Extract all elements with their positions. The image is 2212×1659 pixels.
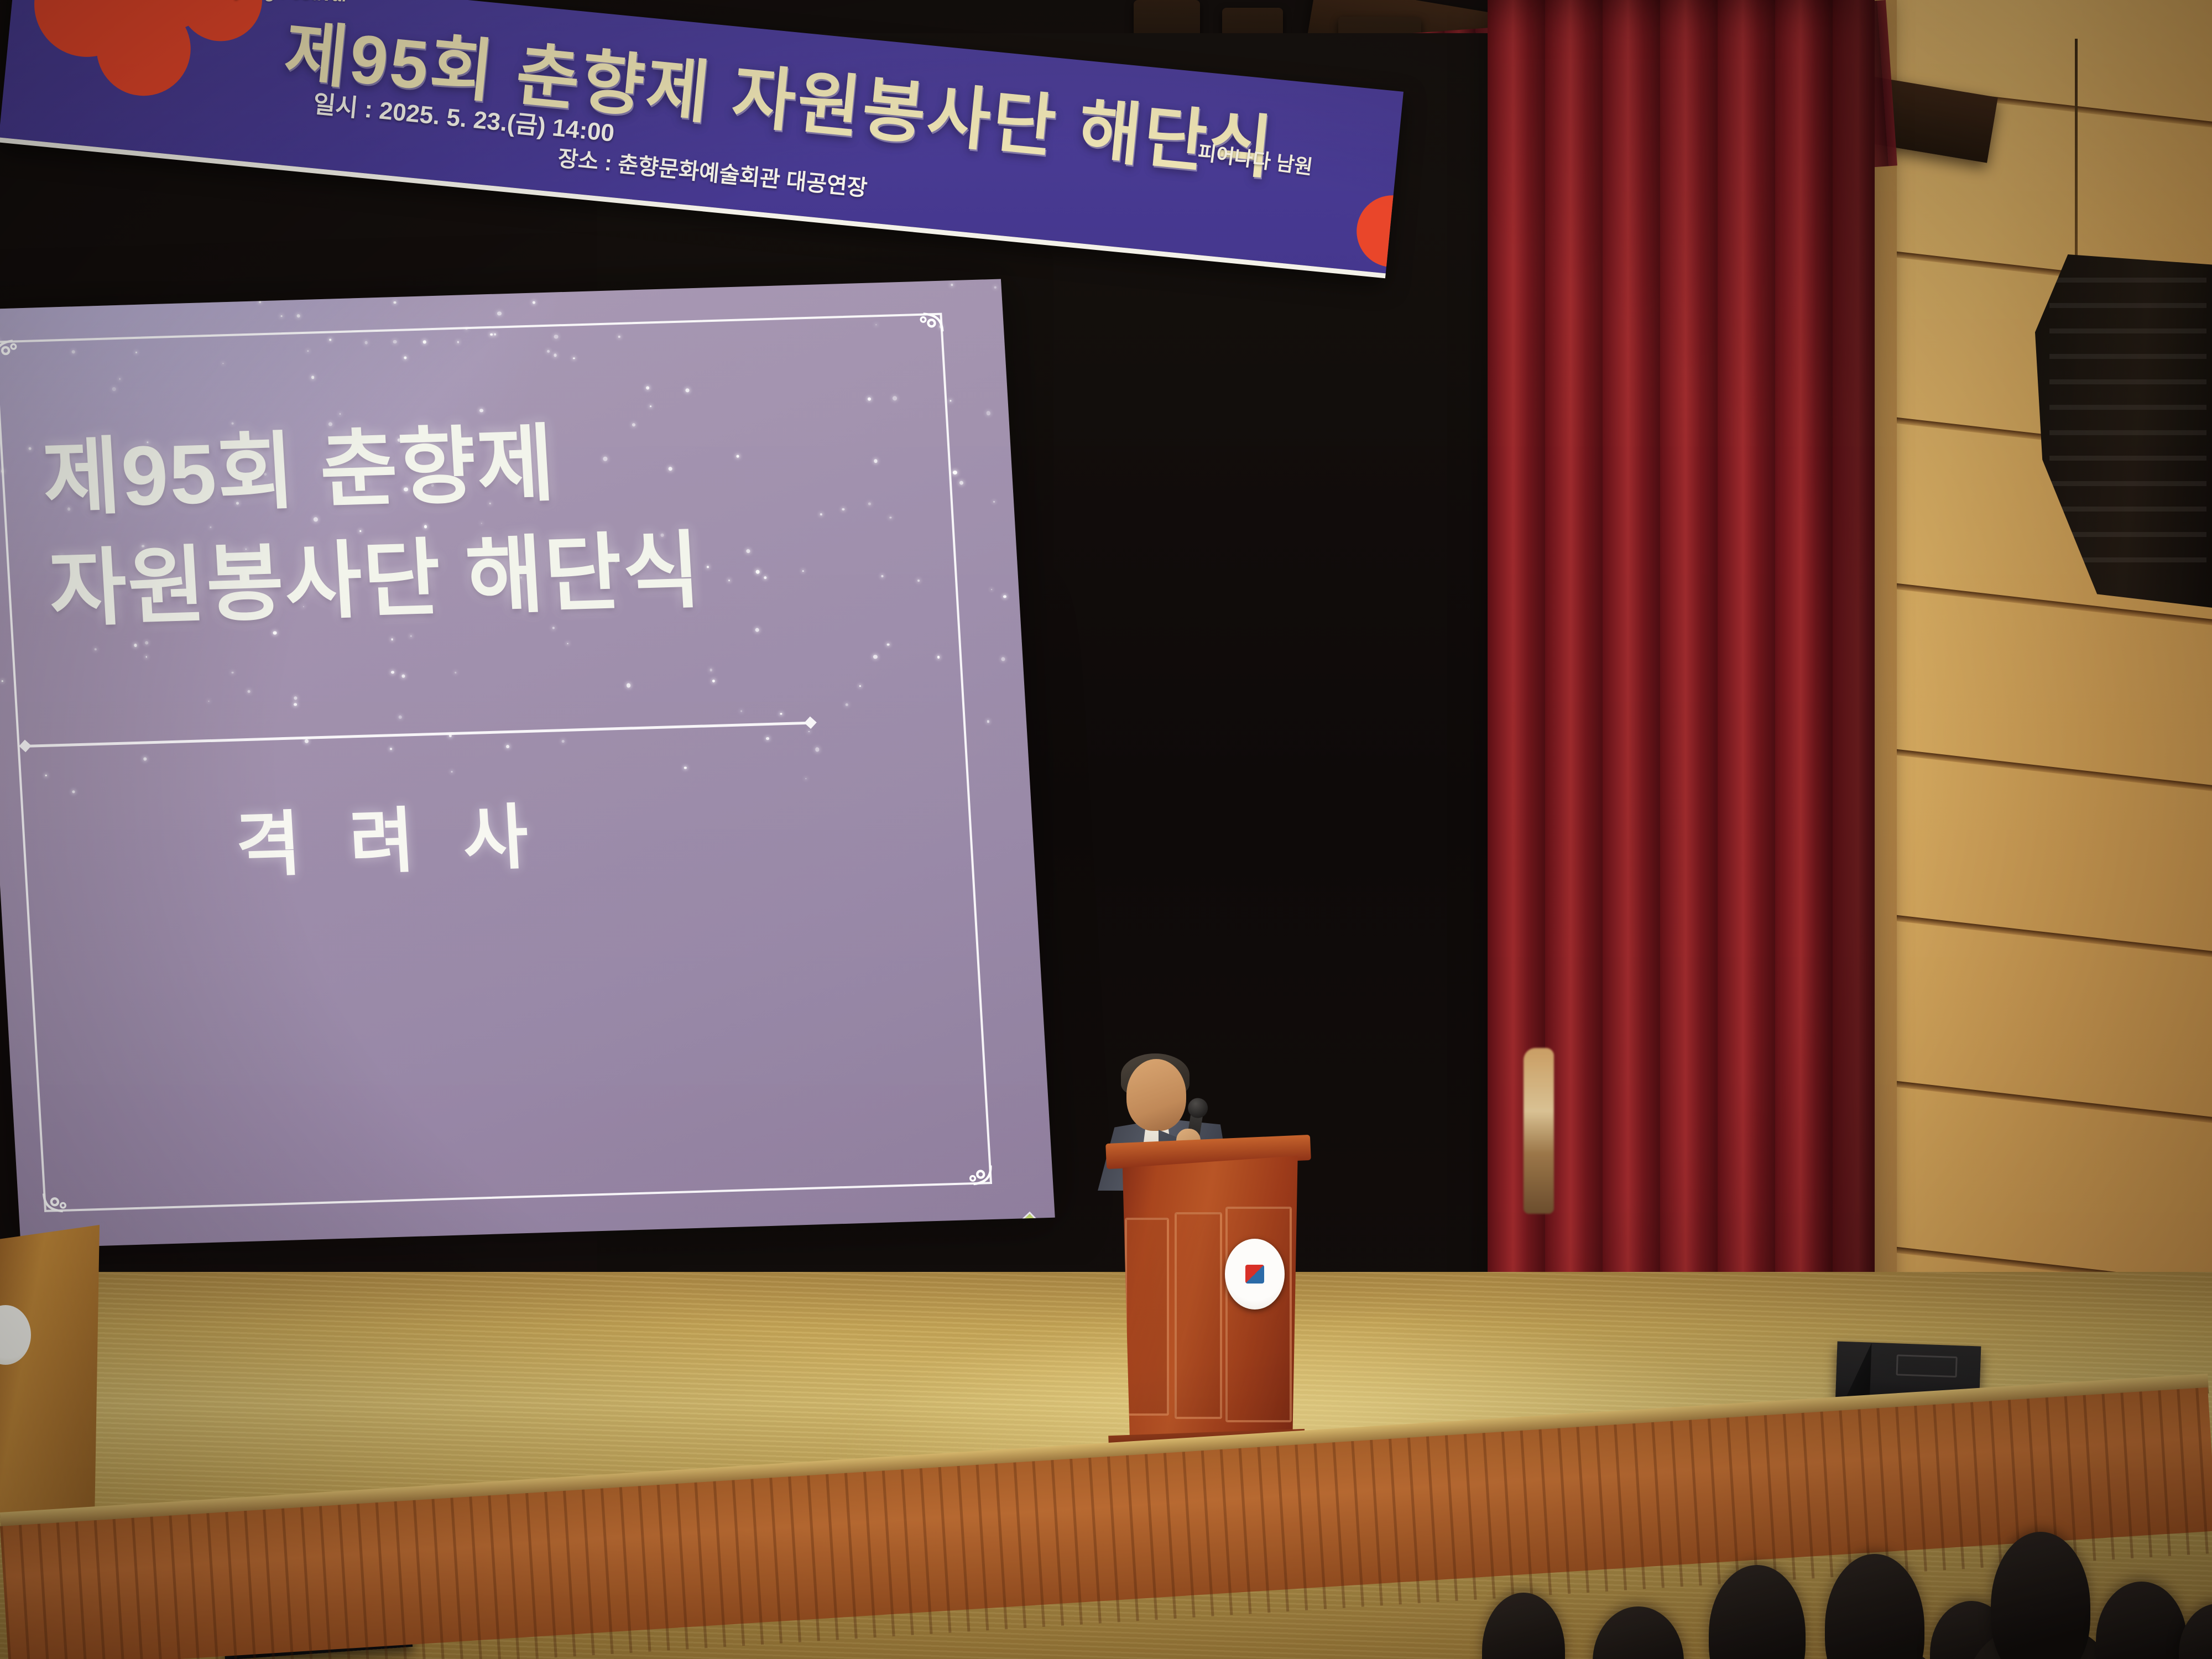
corner-scroll-icon bbox=[39, 1167, 89, 1215]
speaker-cell bbox=[2049, 328, 2206, 333]
apron-slat bbox=[1483, 1433, 1496, 1599]
apron-slat bbox=[1370, 1440, 1383, 1606]
apron-slat bbox=[1820, 1412, 1833, 1578]
apron-slat bbox=[2158, 1390, 2171, 1556]
stage-monitor-brand-icon bbox=[1896, 1355, 1958, 1378]
apron-slat bbox=[2101, 1394, 2115, 1560]
apron-slat bbox=[1201, 1451, 1214, 1616]
apron-slat bbox=[1407, 1438, 1421, 1604]
apron-slat bbox=[19, 1525, 32, 1659]
apron-slat bbox=[413, 1500, 426, 1659]
apron-slat bbox=[1389, 1439, 1402, 1605]
projection-screen: 제95회 춘향제 자원봉사단 해단식 격 려 사 bbox=[0, 279, 1055, 1249]
apron-slat bbox=[957, 1466, 971, 1632]
apron-slat bbox=[244, 1511, 257, 1659]
apron-slat bbox=[750, 1479, 764, 1645]
apron-slat bbox=[920, 1468, 933, 1634]
star-particle bbox=[987, 720, 990, 723]
apron-slat bbox=[1557, 1428, 1571, 1594]
apron-slat bbox=[1088, 1458, 1102, 1624]
apron-slat bbox=[1745, 1416, 1759, 1582]
star-particle bbox=[1003, 595, 1006, 598]
apron-slat bbox=[2083, 1395, 2096, 1561]
apron-slat bbox=[807, 1475, 820, 1641]
apron-slat bbox=[132, 1518, 145, 1659]
apron-slat bbox=[488, 1495, 501, 1659]
projection-screen-surface: 제95회 춘향제 자원봉사단 해단식 격 려 사 bbox=[0, 279, 1055, 1249]
apron-slat bbox=[450, 1498, 463, 1659]
apron-slat bbox=[150, 1517, 163, 1659]
apron-slat bbox=[695, 1483, 708, 1648]
speaker-cell bbox=[2049, 405, 2206, 410]
apron-slat bbox=[263, 1510, 276, 1659]
apron-slat bbox=[769, 1478, 782, 1644]
apron-slat bbox=[1332, 1442, 1345, 1608]
apron-slat bbox=[394, 1501, 408, 1659]
apron-slat bbox=[431, 1499, 445, 1659]
apron-slat bbox=[1895, 1407, 1908, 1573]
speaker-cell bbox=[2049, 430, 2206, 435]
apron-slat bbox=[1520, 1431, 1533, 1597]
apron-slat bbox=[1726, 1417, 1740, 1583]
apron-slat bbox=[2139, 1391, 2152, 1557]
apron-slat bbox=[469, 1496, 482, 1659]
apron-slat bbox=[732, 1480, 745, 1646]
apron-slat bbox=[1576, 1427, 1589, 1593]
slide-title: 제95회 춘향제 자원봉사단 해단식 bbox=[40, 401, 816, 645]
apron-slat bbox=[544, 1492, 557, 1658]
slide-title-line2: 자원봉사단 해단식 bbox=[46, 512, 816, 645]
apron-slat bbox=[1501, 1432, 1515, 1598]
apron-slat bbox=[56, 1522, 70, 1659]
podium-secondary bbox=[0, 1225, 100, 1512]
apron-slat bbox=[1538, 1430, 1552, 1595]
apron-slat bbox=[281, 1509, 295, 1659]
apron-slat bbox=[1651, 1422, 1665, 1588]
apron-slat bbox=[1632, 1423, 1646, 1589]
apron-slat bbox=[94, 1520, 107, 1659]
apron-slat bbox=[1876, 1408, 1890, 1574]
apron-slat bbox=[2195, 1388, 2209, 1554]
apron-slat bbox=[1914, 1406, 1927, 1572]
apron-slat bbox=[2177, 1389, 2190, 1555]
star-particle bbox=[280, 315, 282, 317]
speaker-cell bbox=[2049, 507, 2206, 512]
apron-slat bbox=[1614, 1425, 1627, 1590]
apron-slat bbox=[1839, 1410, 1852, 1576]
apron-slat bbox=[1164, 1453, 1177, 1619]
slide-title-line1: 제95회 춘향제 bbox=[40, 401, 809, 534]
apron-slat bbox=[1933, 1405, 1946, 1571]
speaker-hang-wire bbox=[2075, 39, 2078, 260]
corner-scroll-icon bbox=[945, 1140, 995, 1188]
apron-slat bbox=[1276, 1446, 1289, 1612]
apron-slat bbox=[788, 1477, 801, 1642]
star-particle bbox=[991, 589, 992, 590]
apron-slat bbox=[38, 1524, 51, 1659]
apron-slat bbox=[225, 1512, 238, 1659]
apron-slat bbox=[1708, 1418, 1721, 1584]
apron-slat bbox=[882, 1470, 895, 1636]
apron-slat bbox=[1970, 1402, 1984, 1568]
apron-slat bbox=[507, 1494, 520, 1659]
presenter-head bbox=[1126, 1059, 1186, 1131]
apron-slat bbox=[2120, 1392, 2133, 1558]
star-particle bbox=[950, 400, 952, 402]
stage-photograph: 제95회 춘향제 자원봉사단 해단식 격 려 사 Chunhyang Festi… bbox=[0, 0, 2212, 1659]
apron-slat bbox=[1426, 1436, 1439, 1602]
speaker-cell bbox=[2049, 379, 2206, 384]
apron-slat bbox=[582, 1490, 595, 1656]
apron-slat bbox=[1689, 1420, 1702, 1586]
apron-slat bbox=[169, 1515, 182, 1659]
apron-slat bbox=[1670, 1421, 1683, 1587]
apron-slat bbox=[826, 1474, 839, 1640]
apron-slat bbox=[1051, 1460, 1064, 1626]
apron-slat bbox=[1295, 1444, 1308, 1610]
person-behind-curtain bbox=[1524, 1048, 1554, 1214]
apron-slat bbox=[1445, 1435, 1458, 1601]
apron-slat bbox=[1070, 1459, 1083, 1625]
star-particle bbox=[497, 311, 502, 316]
apron-slat bbox=[525, 1493, 539, 1659]
apron-slat bbox=[1239, 1448, 1252, 1614]
apron-slat bbox=[357, 1504, 370, 1659]
star-particle bbox=[986, 411, 990, 415]
apron-slat bbox=[844, 1473, 858, 1639]
star-particle bbox=[951, 284, 953, 286]
speaker-cell bbox=[2049, 354, 2206, 359]
apron-slat bbox=[319, 1506, 332, 1659]
apron-slat bbox=[938, 1467, 952, 1633]
corner-scroll-icon bbox=[0, 336, 41, 385]
star-particle bbox=[533, 301, 535, 304]
apron-slat bbox=[1952, 1404, 1965, 1569]
star-particle bbox=[1, 680, 3, 682]
apron-slat bbox=[1258, 1447, 1271, 1613]
apron-slat bbox=[206, 1513, 220, 1659]
apron-slat bbox=[1764, 1415, 1777, 1581]
apron-slat bbox=[1145, 1454, 1158, 1620]
speaker-cell bbox=[2049, 456, 2206, 461]
apron-slat bbox=[676, 1484, 689, 1650]
apron-slat bbox=[1989, 1401, 2002, 1567]
apron-slat bbox=[1182, 1452, 1196, 1618]
apron-slat bbox=[1032, 1461, 1045, 1627]
apron-slat bbox=[1126, 1455, 1139, 1621]
apron-slat bbox=[563, 1491, 576, 1657]
apron-slat bbox=[300, 1507, 314, 1659]
apron-slat bbox=[2064, 1396, 2078, 1562]
apron-slat bbox=[113, 1519, 126, 1659]
corner-scroll-icon bbox=[898, 310, 948, 358]
apron-slat bbox=[1107, 1457, 1120, 1623]
star-particle bbox=[994, 286, 997, 288]
apron-slat bbox=[187, 1514, 201, 1659]
apron-slat bbox=[1220, 1449, 1233, 1615]
star-particle bbox=[953, 471, 957, 475]
city-seal-emblem-icon bbox=[1225, 1239, 1285, 1310]
slide-subtitle: 격 려 사 bbox=[233, 779, 545, 890]
apron-slat bbox=[1313, 1443, 1327, 1609]
apron-slat bbox=[713, 1481, 726, 1647]
apron-slat bbox=[1013, 1462, 1026, 1628]
apron-slat bbox=[375, 1503, 389, 1659]
apron-slat bbox=[976, 1465, 989, 1631]
apron-slat bbox=[619, 1487, 633, 1653]
apron-slat bbox=[1783, 1414, 1796, 1580]
star-particle bbox=[1001, 658, 1005, 661]
apron-slat bbox=[338, 1505, 351, 1659]
apron-slat bbox=[601, 1488, 614, 1654]
apron-slat bbox=[1464, 1434, 1477, 1600]
apron-slat bbox=[1351, 1441, 1364, 1607]
banner-place: 장소 : 춘향문화예술회관 대공연장 bbox=[556, 140, 869, 202]
apron-slat bbox=[1802, 1413, 1815, 1579]
speaker-cell bbox=[2049, 303, 2206, 308]
apron-slat bbox=[1595, 1426, 1608, 1592]
apron-slat bbox=[1858, 1409, 1871, 1575]
apron-slat bbox=[994, 1464, 1008, 1630]
speaker-cell bbox=[2049, 278, 2206, 283]
apron-slat bbox=[75, 1521, 88, 1659]
star-particle bbox=[993, 501, 995, 503]
star-particle bbox=[959, 481, 963, 485]
speaker-cell bbox=[2049, 481, 2206, 486]
apron-slat bbox=[863, 1472, 877, 1637]
apron-slat bbox=[901, 1469, 914, 1635]
podium-main bbox=[1117, 1156, 1300, 1454]
apron-slat bbox=[657, 1485, 670, 1651]
apron-slat bbox=[638, 1486, 651, 1652]
